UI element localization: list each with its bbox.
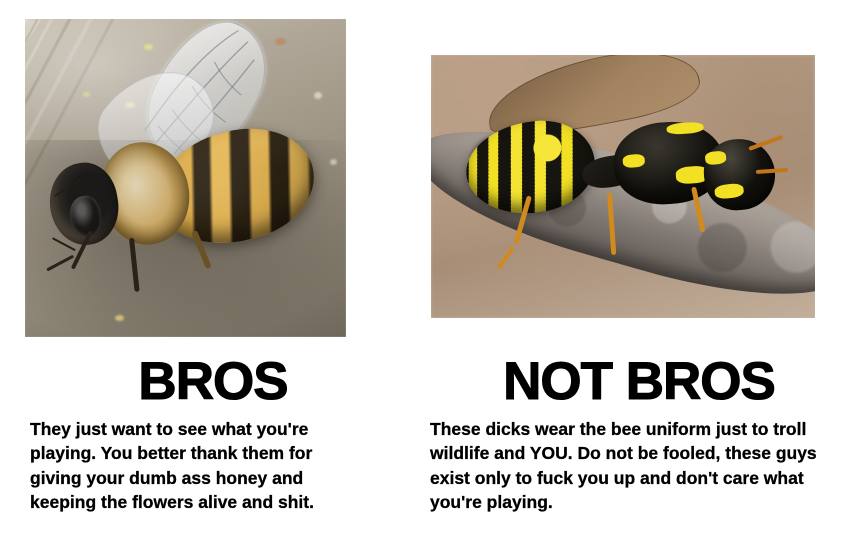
wood-speck [83,92,90,97]
meme-canvas: BROS They just want to see what you're p… [0,0,852,553]
headline-not-bros: NOT BROS [426,356,852,408]
wasp-abdomen [460,113,600,221]
body-text-bros: They just want to see what you're playin… [30,417,360,515]
panel-bros: BROS They just want to see what you're p… [0,0,426,553]
wasp-photo [431,55,815,318]
honeybee-tarsus [47,255,75,272]
honeybee-body [44,121,326,299]
wood-speck [314,92,322,99]
wasp-body [466,108,789,250]
wasp-face-stripe [714,183,745,200]
body-text-not-bros: These dicks wear the bee uniform just to… [430,417,830,515]
headline-bros: BROS [0,356,426,408]
honeybee-scene [25,19,346,337]
wood-speck [330,159,337,165]
honeybee-photo [25,19,346,337]
wasp-scene [431,55,815,318]
panel-not-bros: NOT BROS These dicks wear the bee unifor… [426,0,852,553]
wasp-midleg [607,193,616,255]
wasp-abdomen-spot [531,132,563,163]
honeybee-eye [66,194,104,240]
wood-speck [115,315,124,321]
wasp-thorax-stripe-side [622,153,645,168]
wasp-thorax-stripe-top [666,121,704,135]
wasp-head-stripe [705,150,727,165]
